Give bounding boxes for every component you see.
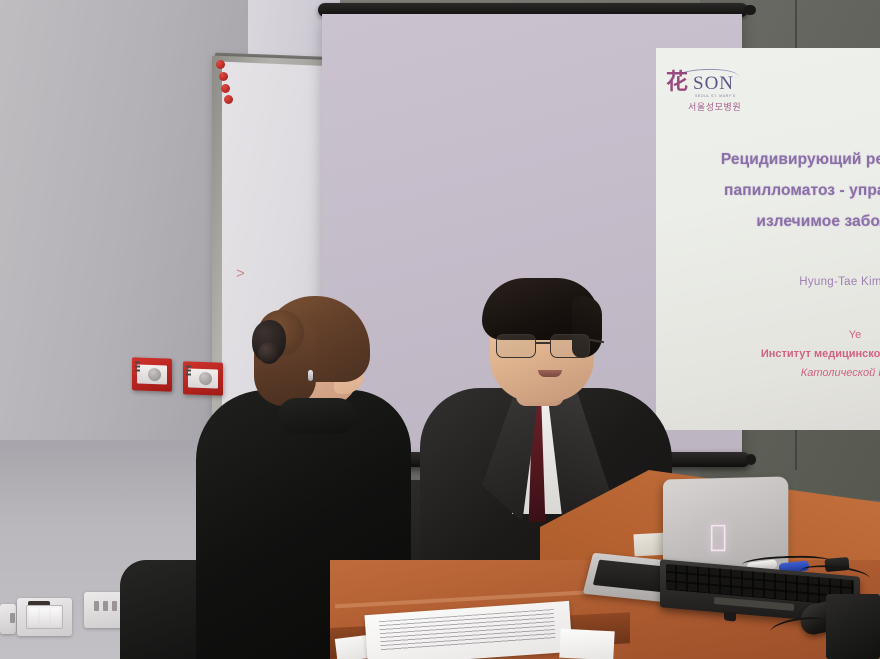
- flipchart-clip: [224, 95, 233, 104]
- flipchart-pen-mark: >: [236, 267, 246, 281]
- fire-alarm-grille: [186, 365, 191, 377]
- logo-subtitle-kr: 서울성모병원: [688, 100, 741, 113]
- logo-wordmark: SON: [693, 73, 734, 95]
- slide-title: Рецидивирующий респираторный папилломато…: [674, 144, 880, 237]
- slide-affiliation-line-1: Ye: [664, 326, 880, 345]
- wall-socket-plate: [0, 604, 16, 634]
- woman-collar: [278, 398, 356, 434]
- flipchart-clip: [216, 60, 225, 69]
- slide-title-line-1: Рецидивирующий респираторный: [674, 144, 880, 175]
- earring: [308, 370, 313, 381]
- monitor-rear: [826, 594, 880, 659]
- lens-left: [496, 334, 536, 358]
- slide-title-line-2: папилломатоз - управляемое или: [674, 175, 880, 206]
- logo-flower-icon: 花: [666, 70, 692, 98]
- lens-right: [550, 334, 590, 358]
- man-mouth: [538, 370, 562, 377]
- apple-logo-icon: : [705, 522, 732, 554]
- handout-text-lines: [379, 609, 556, 651]
- wall-switch-plate[interactable]: [17, 598, 72, 636]
- slide-affiliation: Ye Институт медицинского искусства Катол…: [664, 326, 880, 383]
- slide-affiliation-line-3: Католической Кореи: [664, 364, 880, 383]
- light-switch-rockers[interactable]: [26, 605, 63, 629]
- fire-alarm-face: [137, 364, 167, 384]
- fire-alarm-grille: [135, 361, 140, 373]
- glasses-temple: [590, 339, 604, 343]
- flipchart-clip: [219, 72, 228, 81]
- conference-room-photo: > Recurrent respiratory papillomatosis 花…: [0, 0, 880, 659]
- slide-affiliation-line-2: Институт медицинского искусства: [664, 345, 880, 364]
- keyboard-foot: [724, 611, 736, 621]
- slide-logo: 花 SON SEOUL ST. MARY'S 서울성모병원: [666, 66, 752, 118]
- socket-holes: [94, 601, 117, 611]
- flipchart-clip: [221, 84, 230, 93]
- eyeglasses-icon: [494, 334, 600, 360]
- fire-alarm-icon: [132, 357, 172, 391]
- hair-clip: [252, 320, 286, 362]
- socket-holes: [10, 613, 15, 623]
- glasses-bridge: [536, 342, 550, 344]
- paper-sheet: [559, 629, 614, 659]
- slide-title-line-3: излечимое заболевание?: [674, 206, 880, 237]
- slide-author: Hyung-Tae Kim, MD,: [674, 276, 880, 288]
- logo-subtitle-en: SEOUL ST. MARY'S: [695, 94, 736, 98]
